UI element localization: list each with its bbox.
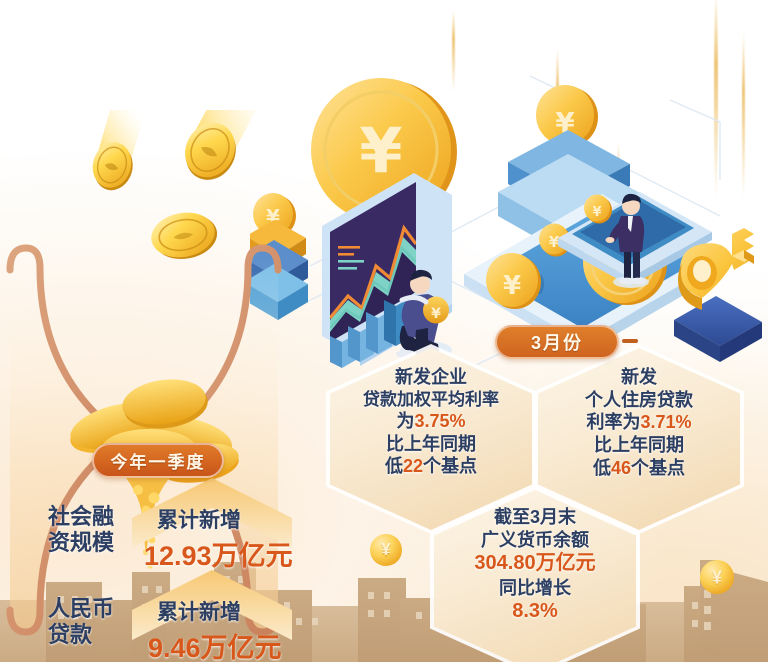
hex2-line1: 新发 bbox=[538, 366, 740, 389]
hex2-line5-suffix: 个基点 bbox=[631, 458, 685, 478]
hex2-line2: 个人住房贷款 bbox=[538, 389, 740, 412]
stat-value-rmb-loans: 9.46万亿元 bbox=[148, 626, 282, 662]
hexagon-text-broad-money-balance: 截至3月末 广义货币余额 304.80万亿元 同比增长 8.3% bbox=[434, 506, 636, 624]
hex2-bp-value: 46 bbox=[611, 458, 631, 478]
hex3-line2: 广义货币余额 bbox=[434, 529, 636, 552]
stat-label-line2: 资规模 bbox=[48, 530, 114, 556]
badge-march: 3月份 bbox=[495, 325, 619, 359]
hex1-line3: 为3.75% bbox=[330, 410, 532, 433]
hex1-line5: 低22个基点 bbox=[330, 455, 532, 478]
hex3-amount-value: 304.80 bbox=[474, 552, 535, 574]
falling-gold-coins bbox=[70, 110, 300, 360]
svg-text:¥: ¥ bbox=[592, 205, 601, 220]
stat-label-line2: 贷款 bbox=[48, 622, 114, 648]
hex1-line5-prefix: 低 bbox=[385, 456, 403, 476]
hexagon-text-enterprise-loan-rate: 新发企业 贷款加权平均利率 为3.75% 比上年同期 低22个基点 bbox=[330, 366, 532, 478]
hex3-line3: 304.80万亿元 bbox=[434, 551, 636, 576]
stat-value-social-financing: 12.93万亿元 bbox=[144, 534, 293, 573]
hexagon-text-personal-housing-loan-rate: 新发 个人住房贷款 利率为3.71% 比上年同期 低46个基点 bbox=[538, 366, 740, 479]
svg-text:¥: ¥ bbox=[359, 114, 402, 187]
hex1-line4: 比上年同期 bbox=[330, 433, 532, 456]
stat-label-line1: 社会融 bbox=[48, 504, 114, 530]
stat-label-social-financing: 社会融 资规模 bbox=[48, 504, 114, 556]
stat-caption-social-financing: 累计新增 bbox=[157, 504, 241, 534]
svg-text:¥: ¥ bbox=[431, 306, 441, 322]
hex1-line2: 贷款加权平均利率 bbox=[330, 389, 532, 410]
hex1-bp-value: 22 bbox=[403, 456, 423, 476]
stat-caption-rmb-loans: 累计新增 bbox=[157, 596, 241, 626]
hex1-rate-value: 3.75% bbox=[414, 411, 465, 431]
yen-coin-floating: ¥ bbox=[370, 534, 402, 566]
badge-dash bbox=[622, 339, 638, 343]
hex1-line5-suffix: 个基点 bbox=[423, 456, 477, 476]
hex3-growth-value: 8.3% bbox=[434, 599, 636, 624]
hex2-line3: 利率为3.71% bbox=[538, 411, 740, 434]
yen-coin-floating: ¥ bbox=[700, 560, 734, 594]
stat-label-line1: 人民币 bbox=[48, 596, 114, 622]
hex1-line3-prefix: 为 bbox=[396, 411, 414, 431]
hex1-line1: 新发企业 bbox=[330, 366, 532, 389]
hex2-line3-prefix: 利率为 bbox=[586, 412, 640, 432]
infographic-canvas: ¥ ¥ bbox=[0, 0, 768, 662]
stat-label-rmb-loans: 人民币 贷款 bbox=[48, 596, 114, 648]
hex3-amount-unit: 万亿元 bbox=[536, 552, 596, 574]
hex3-line4: 同比增长 bbox=[434, 577, 636, 600]
svg-text:¥: ¥ bbox=[503, 271, 521, 301]
hex2-line5-prefix: 低 bbox=[593, 458, 611, 478]
hex2-line4: 比上年同期 bbox=[538, 434, 740, 457]
hex3-line1: 截至3月末 bbox=[434, 506, 636, 529]
hex2-rate-value: 3.71% bbox=[640, 412, 691, 432]
hex2-line5: 低46个基点 bbox=[538, 457, 740, 480]
badge-this-quarter: 今年一季度 bbox=[92, 443, 224, 478]
